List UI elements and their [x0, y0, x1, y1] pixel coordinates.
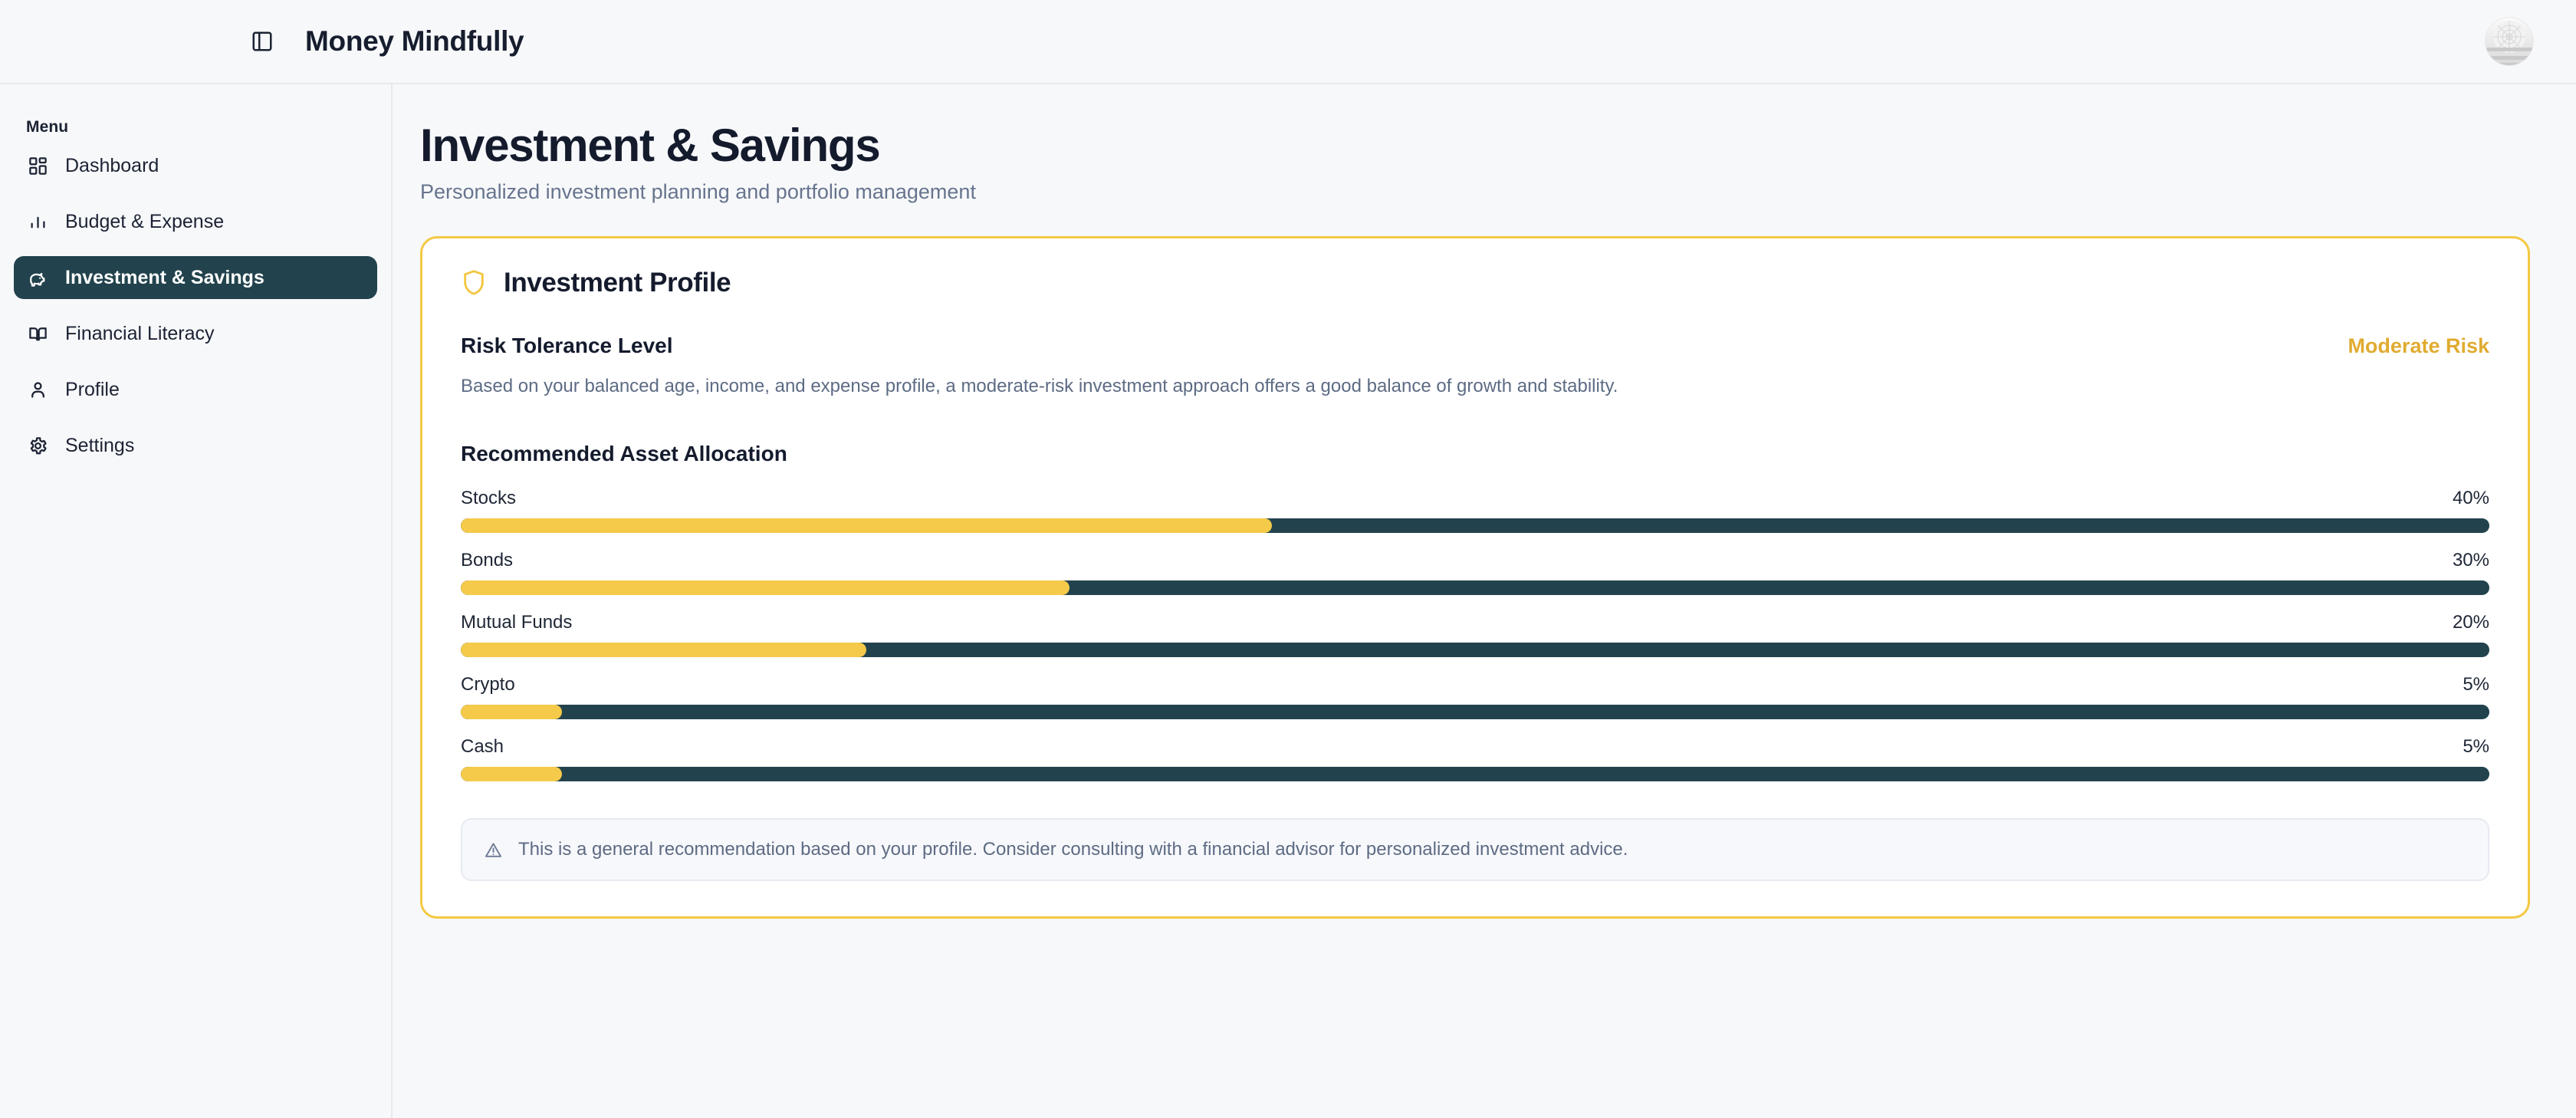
top-bar-right: [2485, 17, 2534, 66]
card-title: Investment Profile: [504, 268, 731, 298]
sidebar-item-investment-savings[interactable]: Investment & Savings: [14, 256, 377, 299]
sidebar-item-label: Financial Literacy: [65, 323, 215, 345]
asset-name: Crypto: [461, 674, 515, 695]
allocation-bar-track: [461, 643, 2489, 657]
sidebar-item-profile[interactable]: Profile: [14, 368, 377, 411]
disclaimer-text: This is a general recommendation based o…: [518, 839, 1628, 860]
card-header: Investment Profile: [461, 268, 2489, 298]
sidebar-item-settings[interactable]: Settings: [14, 424, 377, 467]
sidebar-item-label: Budget & Expense: [65, 211, 224, 233]
sidebar-item-dashboard[interactable]: Dashboard: [14, 144, 377, 187]
shield-icon: [461, 268, 488, 298]
risk-level-badge: Moderate Risk: [2348, 334, 2489, 358]
asset-allocation-heading: Recommended Asset Allocation: [461, 442, 2489, 466]
asset-name: Cash: [461, 736, 504, 758]
app-title: Money Mindfully: [305, 25, 524, 58]
asset-allocation-row-header: Stocks40%: [461, 488, 2489, 509]
asset-allocation-list: Stocks40%Bonds30%Mutual Funds20%Crypto5%…: [461, 488, 2489, 781]
asset-allocation-row-header: Crypto5%: [461, 674, 2489, 695]
risk-tolerance-heading: Risk Tolerance Level: [461, 334, 673, 358]
asset-allocation-row: Stocks40%: [461, 488, 2489, 533]
sidebar-item-budget-expense[interactable]: Budget & Expense: [14, 200, 377, 243]
asset-allocation-row: Cash5%: [461, 736, 2489, 781]
gear-icon: [26, 434, 49, 457]
main-content: Investment & Savings Personalized invest…: [393, 84, 2576, 1118]
allocation-bar-fill: [461, 643, 866, 657]
sidebar-toggle-icon[interactable]: [245, 25, 279, 58]
body-row: Menu Dashboard: [0, 84, 2576, 1118]
grid-dashboard-icon: [26, 154, 49, 177]
asset-allocation-row-header: Mutual Funds20%: [461, 612, 2489, 633]
risk-tolerance-row: Risk Tolerance Level Moderate Risk: [461, 334, 2489, 358]
asset-allocation-row: Mutual Funds20%: [461, 612, 2489, 657]
sidebar-section-label: Menu: [14, 118, 377, 144]
piggy-bank-icon: [26, 266, 49, 289]
asset-name: Bonds: [461, 550, 513, 571]
allocation-bar-track: [461, 580, 2489, 595]
sidebar: Menu Dashboard: [0, 84, 393, 1118]
page-subtitle: Personalized investment planning and por…: [420, 180, 2530, 204]
allocation-bar-fill: [461, 580, 1069, 595]
asset-allocation-row-header: Bonds30%: [461, 550, 2489, 571]
asset-allocation-row-header: Cash5%: [461, 736, 2489, 758]
allocation-bar-track: [461, 518, 2489, 533]
asset-name: Mutual Funds: [461, 612, 572, 633]
top-bar: Money Mindfully: [0, 0, 2576, 84]
bar-chart-icon: [26, 210, 49, 233]
asset-allocation-row: Crypto5%: [461, 674, 2489, 719]
alert-triangle-icon: [484, 840, 504, 860]
asset-percentage: 5%: [2463, 736, 2489, 758]
sidebar-item-label: Settings: [65, 435, 134, 457]
asset-percentage: 40%: [2453, 488, 2489, 509]
allocation-bar-track: [461, 705, 2489, 719]
sidebar-item-label: Profile: [65, 379, 120, 401]
investment-profile-card: Investment Profile Risk Tolerance Level …: [420, 236, 2530, 919]
allocation-bar-fill: [461, 705, 562, 719]
open-book-icon: [26, 322, 49, 345]
allocation-bar-fill: [461, 767, 562, 781]
allocation-bar-fill: [461, 518, 1272, 533]
page-title: Investment & Savings: [420, 120, 2530, 171]
asset-percentage: 30%: [2453, 550, 2489, 571]
sidebar-item-financial-literacy[interactable]: Financial Literacy: [14, 312, 377, 355]
sidebar-item-label: Investment & Savings: [65, 267, 264, 289]
disclaimer-note: This is a general recommendation based o…: [461, 818, 2489, 881]
asset-name: Stocks: [461, 488, 516, 509]
asset-allocation-row: Bonds30%: [461, 550, 2489, 595]
risk-tolerance-description: Based on your balanced age, income, and …: [461, 376, 2489, 397]
sidebar-item-label: Dashboard: [65, 155, 159, 177]
allocation-bar-track: [461, 767, 2489, 781]
user-icon: [26, 378, 49, 401]
asset-percentage: 20%: [2453, 612, 2489, 633]
avatar[interactable]: [2485, 17, 2534, 66]
asset-percentage: 5%: [2463, 674, 2489, 695]
app-root: Money Mindfully: [0, 0, 2576, 1118]
